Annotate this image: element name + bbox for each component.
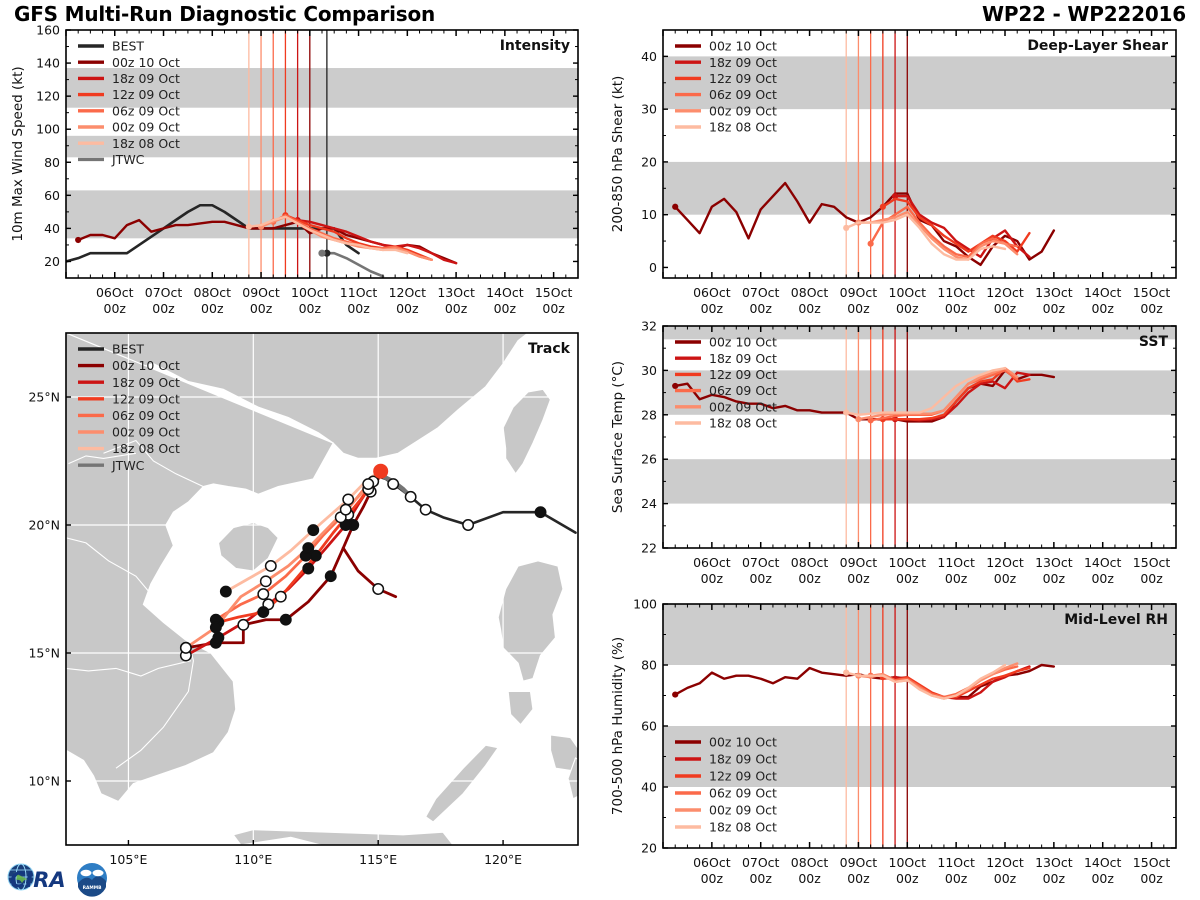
legend-label: 18z 08 Oct: [709, 120, 777, 135]
y-tick-label: 26: [641, 452, 657, 467]
series-init-dot: [843, 409, 849, 415]
legend-label: 12z 09 Oct: [112, 391, 180, 406]
x-tick-sublabel: 00z: [847, 301, 870, 316]
cira-wordmark: CIRA: [10, 868, 66, 892]
x-tick-sublabel: 00z: [701, 871, 724, 886]
x-tick-sublabel: 00z: [945, 571, 968, 586]
x-tick-label: 15Oct: [1133, 555, 1171, 570]
legend-label: 18z 09 Oct: [709, 55, 777, 70]
x-tick-sublabel: 00z: [347, 301, 370, 316]
y-tick-label: 80: [641, 658, 657, 673]
track-marker-12z: [463, 520, 473, 530]
y-tick-label: 40: [44, 221, 60, 236]
legend-label: 00z 10 Oct: [709, 735, 777, 750]
x-tick-label: 13Oct: [1035, 555, 1073, 570]
x-tick-sublabel: 00z: [445, 301, 468, 316]
x-tick-label: 08Oct: [791, 285, 829, 300]
x-tick-sublabel: 00z: [798, 871, 821, 886]
x-tick-label: 08Oct: [194, 285, 232, 300]
legend-label: 18z 09 Oct: [112, 71, 180, 86]
series-init-dot: [843, 225, 849, 231]
x-tick-label: 15Oct: [1133, 855, 1171, 870]
panel-sst: 22242628303206Oct00z07Oct00z08Oct00z09Oc…: [610, 319, 1176, 587]
current-position-marker: [373, 464, 388, 479]
x-tick-label: 06Oct: [693, 555, 731, 570]
x-tick-sublabel: 00z: [749, 571, 772, 586]
y-tick-label: 22: [641, 541, 657, 556]
x-tick-sublabel: 00z: [749, 871, 772, 886]
x-tick-sublabel: 00z: [701, 301, 724, 316]
y-tick-label: 120: [36, 89, 60, 104]
x-tick-sublabel: 00z: [1140, 301, 1163, 316]
y-axis-label: Sea Surface Temp (°C): [610, 361, 626, 513]
legend-label: 06z 09 Oct: [709, 786, 777, 801]
series-init-dot: [843, 670, 849, 676]
x-tick-sublabel: 00z: [994, 871, 1017, 886]
y-tick-label: 160: [36, 23, 60, 38]
cira-logo: CIRA RAMMB: [4, 856, 124, 898]
legend-label: 12z 09 Oct: [709, 367, 777, 382]
x-tick-sublabel: 00z: [1091, 871, 1114, 886]
x-tick-sublabel: 00z: [896, 301, 919, 316]
x-tick-sublabel: 00z: [1043, 301, 1066, 316]
x-tick-sublabel: 00z: [1140, 571, 1163, 586]
map-y-tick-label: 20°N: [28, 518, 60, 533]
track-marker-12z: [343, 494, 353, 504]
x-tick-sublabel: 00z: [542, 301, 565, 316]
track-marker-00z: [281, 615, 291, 625]
y-tick-label: 60: [44, 188, 60, 203]
panel-rh: 2040608010006Oct00z07Oct00z08Oct00z09Oct…: [610, 597, 1176, 887]
x-tick-label: 10Oct: [889, 555, 927, 570]
panel-title-intensity: Intensity: [500, 38, 570, 54]
panel-intensity: 2040608010012014016006Oct00z07Oct00z08Oc…: [10, 23, 578, 317]
track-marker-12z: [420, 504, 430, 514]
legend-label: 06z 09 Oct: [709, 383, 777, 398]
legend-label: 12z 09 Oct: [709, 769, 777, 784]
map-x-tick-label: 115°E: [359, 852, 397, 867]
track-marker-12z: [373, 584, 383, 594]
series-init-dot: [672, 383, 678, 389]
x-tick-sublabel: 00z: [1091, 301, 1114, 316]
x-tick-label: 08Oct: [791, 855, 829, 870]
y-tick-label: 20: [44, 254, 60, 269]
x-tick-sublabel: 00z: [749, 301, 772, 316]
track-marker-00z: [258, 607, 268, 617]
track-marker-00z: [535, 507, 545, 517]
map-x-tick-label: 110°E: [234, 852, 272, 867]
y-tick-label: 100: [633, 597, 657, 612]
y-tick-label: 30: [641, 363, 657, 378]
legend-label: BEST: [112, 342, 144, 357]
panel-title-rh: Mid-Level RH: [1064, 612, 1168, 628]
track-marker-12z: [261, 576, 271, 586]
series-init-dot: [855, 416, 861, 422]
track-marker-12z: [181, 643, 191, 653]
map-x-tick-label: 120°E: [484, 852, 522, 867]
x-tick-sublabel: 00z: [1043, 871, 1066, 886]
x-tick-sublabel: 00z: [896, 871, 919, 886]
x-tick-sublabel: 00z: [847, 871, 870, 886]
x-tick-label: 14Oct: [486, 285, 524, 300]
x-tick-sublabel: 00z: [104, 301, 127, 316]
x-tick-label: 09Oct: [840, 855, 878, 870]
svg-text:RAMMB: RAMMB: [83, 885, 103, 891]
y-tick-label: 80: [44, 155, 60, 170]
map-y-tick-label: 15°N: [28, 646, 60, 661]
legend-label: 00z 10 Oct: [709, 39, 777, 54]
track-marker-00z: [221, 586, 231, 596]
track-marker-00z: [303, 563, 313, 573]
legend-label: BEST: [112, 39, 144, 54]
track-marker-12z: [238, 620, 248, 630]
legend-label: 18z 08 Oct: [709, 820, 777, 835]
legend-label: 00z 09 Oct: [709, 803, 777, 818]
legend-label: 00z 10 Oct: [709, 335, 777, 350]
x-tick-label: 07Oct: [742, 285, 780, 300]
x-tick-label: 10Oct: [889, 855, 927, 870]
track-marker-00z: [308, 525, 318, 535]
legend-label: JTWC: [111, 152, 145, 167]
track-marker-00z: [211, 622, 221, 632]
legend-label: 18z 09 Oct: [112, 375, 180, 390]
x-tick-sublabel: 00z: [701, 571, 724, 586]
x-tick-sublabel: 00z: [1043, 571, 1066, 586]
y-axis-label: 700-500 hPa Humidity (%): [610, 637, 626, 815]
x-tick-label: 07Oct: [742, 855, 780, 870]
y-tick-label: 24: [641, 496, 657, 511]
series-init-dot: [246, 224, 252, 230]
track-marker-12z: [388, 479, 398, 489]
x-tick-sublabel: 00z: [798, 301, 821, 316]
x-tick-sublabel: 00z: [847, 571, 870, 586]
x-tick-sublabel: 00z: [994, 301, 1017, 316]
x-tick-label: 13Oct: [1035, 285, 1073, 300]
legend-label: 00z 09 Oct: [112, 425, 180, 440]
track-marker-12z: [258, 589, 268, 599]
x-tick-sublabel: 00z: [299, 301, 322, 316]
series-init-dot: [880, 204, 886, 210]
x-tick-sublabel: 00z: [798, 571, 821, 586]
legend-label: 00z 09 Oct: [112, 120, 180, 135]
x-tick-sublabel: 00z: [994, 571, 1017, 586]
legend-label: 00z 10 Oct: [112, 358, 180, 373]
x-tick-sublabel: 00z: [250, 301, 273, 316]
x-tick-sublabel: 00z: [494, 301, 517, 316]
panel-title-track: Track: [528, 341, 571, 357]
track-marker-12z: [341, 504, 351, 514]
series-init-dot: [672, 204, 678, 210]
x-tick-label: 11Oct: [937, 555, 975, 570]
x-tick-label: 14Oct: [1084, 285, 1122, 300]
legend-label: 00z 10 Oct: [112, 55, 180, 70]
series-init-dot: [75, 237, 81, 243]
legend-label: 00z 09 Oct: [709, 103, 777, 118]
x-tick-label: 11Oct: [937, 285, 975, 300]
x-tick-label: 07Oct: [145, 285, 183, 300]
y-tick-label: 30: [641, 102, 657, 117]
track-marker-12z: [363, 479, 373, 489]
x-tick-label: 07Oct: [742, 555, 780, 570]
legend-label: 18z 09 Oct: [709, 351, 777, 366]
x-tick-label: 08Oct: [791, 555, 829, 570]
legend-label: 12z 09 Oct: [709, 71, 777, 86]
y-tick-label: 20: [641, 154, 657, 169]
y-axis-label: 10m Max Wind Speed (kt): [10, 66, 26, 241]
track-marker-12z: [266, 561, 276, 571]
panel-shear: 01020304006Oct00z07Oct00z08Oct00z09Oct00…: [610, 30, 1176, 316]
shaded-band: [663, 162, 1176, 215]
track-marker-12z: [276, 591, 286, 601]
y-tick-label: 0: [649, 260, 657, 275]
y-tick-label: 140: [36, 56, 60, 71]
x-tick-sublabel: 00z: [1140, 871, 1163, 886]
legend-label: 06z 09 Oct: [112, 408, 180, 423]
figure-canvas: 2040608010012014016006Oct00z07Oct00z08Oc…: [0, 0, 1200, 900]
y-tick-label: 32: [641, 319, 657, 334]
legend-label: 18z 08 Oct: [709, 416, 777, 431]
series-init-dot: [868, 241, 874, 247]
track-marker-00z: [213, 632, 223, 642]
x-tick-label: 09Oct: [840, 555, 878, 570]
shaded-band: [66, 190, 578, 238]
rammb-badge-icon: RAMMB: [77, 863, 107, 897]
x-tick-sublabel: 00z: [396, 301, 419, 316]
shaded-band: [663, 459, 1176, 503]
panel-track-map: 10°N15°N20°N25°N105°E110°E115°E120°ETrac…: [28, 333, 642, 867]
x-tick-label: 09Oct: [242, 285, 280, 300]
y-tick-label: 60: [641, 719, 657, 734]
x-tick-label: 06Oct: [693, 855, 731, 870]
legend-label: 18z 08 Oct: [112, 136, 180, 151]
x-tick-sublabel: 00z: [896, 571, 919, 586]
x-tick-label: 14Oct: [1084, 855, 1122, 870]
x-tick-label: 12Oct: [986, 555, 1024, 570]
x-tick-label: 06Oct: [96, 285, 134, 300]
x-tick-label: 11Oct: [340, 285, 378, 300]
x-tick-sublabel: 00z: [945, 871, 968, 886]
x-tick-label: 12Oct: [389, 285, 427, 300]
x-tick-label: 09Oct: [840, 285, 878, 300]
x-tick-label: 12Oct: [986, 285, 1024, 300]
map-y-tick-label: 10°N: [28, 774, 60, 789]
x-tick-label: 06Oct: [693, 285, 731, 300]
y-axis-label: 200-850 hPa Shear (kt): [610, 76, 626, 233]
legend-label: 18z 08 Oct: [112, 441, 180, 456]
y-tick-label: 40: [641, 780, 657, 795]
x-tick-label: 14Oct: [1084, 555, 1122, 570]
y-tick-label: 20: [641, 841, 657, 856]
y-tick-label: 40: [641, 49, 657, 64]
track-marker-00z: [303, 543, 313, 553]
legend-label: JTWC: [111, 458, 145, 473]
panel-title-sst: SST: [1139, 334, 1169, 350]
legend-label: 12z 09 Oct: [112, 87, 180, 102]
series-init-dot: [672, 691, 678, 697]
panel-title-shear: Deep-Layer Shear: [1027, 38, 1168, 54]
x-tick-label: 15Oct: [535, 285, 573, 300]
x-tick-sublabel: 00z: [945, 301, 968, 316]
x-tick-label: 11Oct: [937, 855, 975, 870]
x-tick-sublabel: 00z: [152, 301, 175, 316]
x-tick-sublabel: 00z: [201, 301, 224, 316]
track-marker-12z: [405, 492, 415, 502]
map-y-tick-label: 25°N: [28, 390, 60, 405]
jtwc-current-dot: [318, 250, 325, 257]
track-marker-00z: [326, 571, 336, 581]
y-tick-label: 28: [641, 407, 657, 422]
x-tick-label: 13Oct: [1035, 855, 1073, 870]
legend-label: 06z 09 Oct: [709, 87, 777, 102]
x-tick-label: 13Oct: [437, 285, 475, 300]
x-tick-label: 10Oct: [291, 285, 329, 300]
y-tick-label: 10: [641, 207, 657, 222]
legend-label: 00z 09 Oct: [709, 399, 777, 414]
legend-label: 06z 09 Oct: [112, 103, 180, 118]
legend-label: 18z 09 Oct: [709, 752, 777, 767]
x-tick-label: 12Oct: [986, 855, 1024, 870]
x-tick-label: 15Oct: [1133, 285, 1171, 300]
x-tick-sublabel: 00z: [1091, 571, 1114, 586]
x-tick-label: 10Oct: [889, 285, 927, 300]
y-tick-label: 100: [36, 122, 60, 137]
